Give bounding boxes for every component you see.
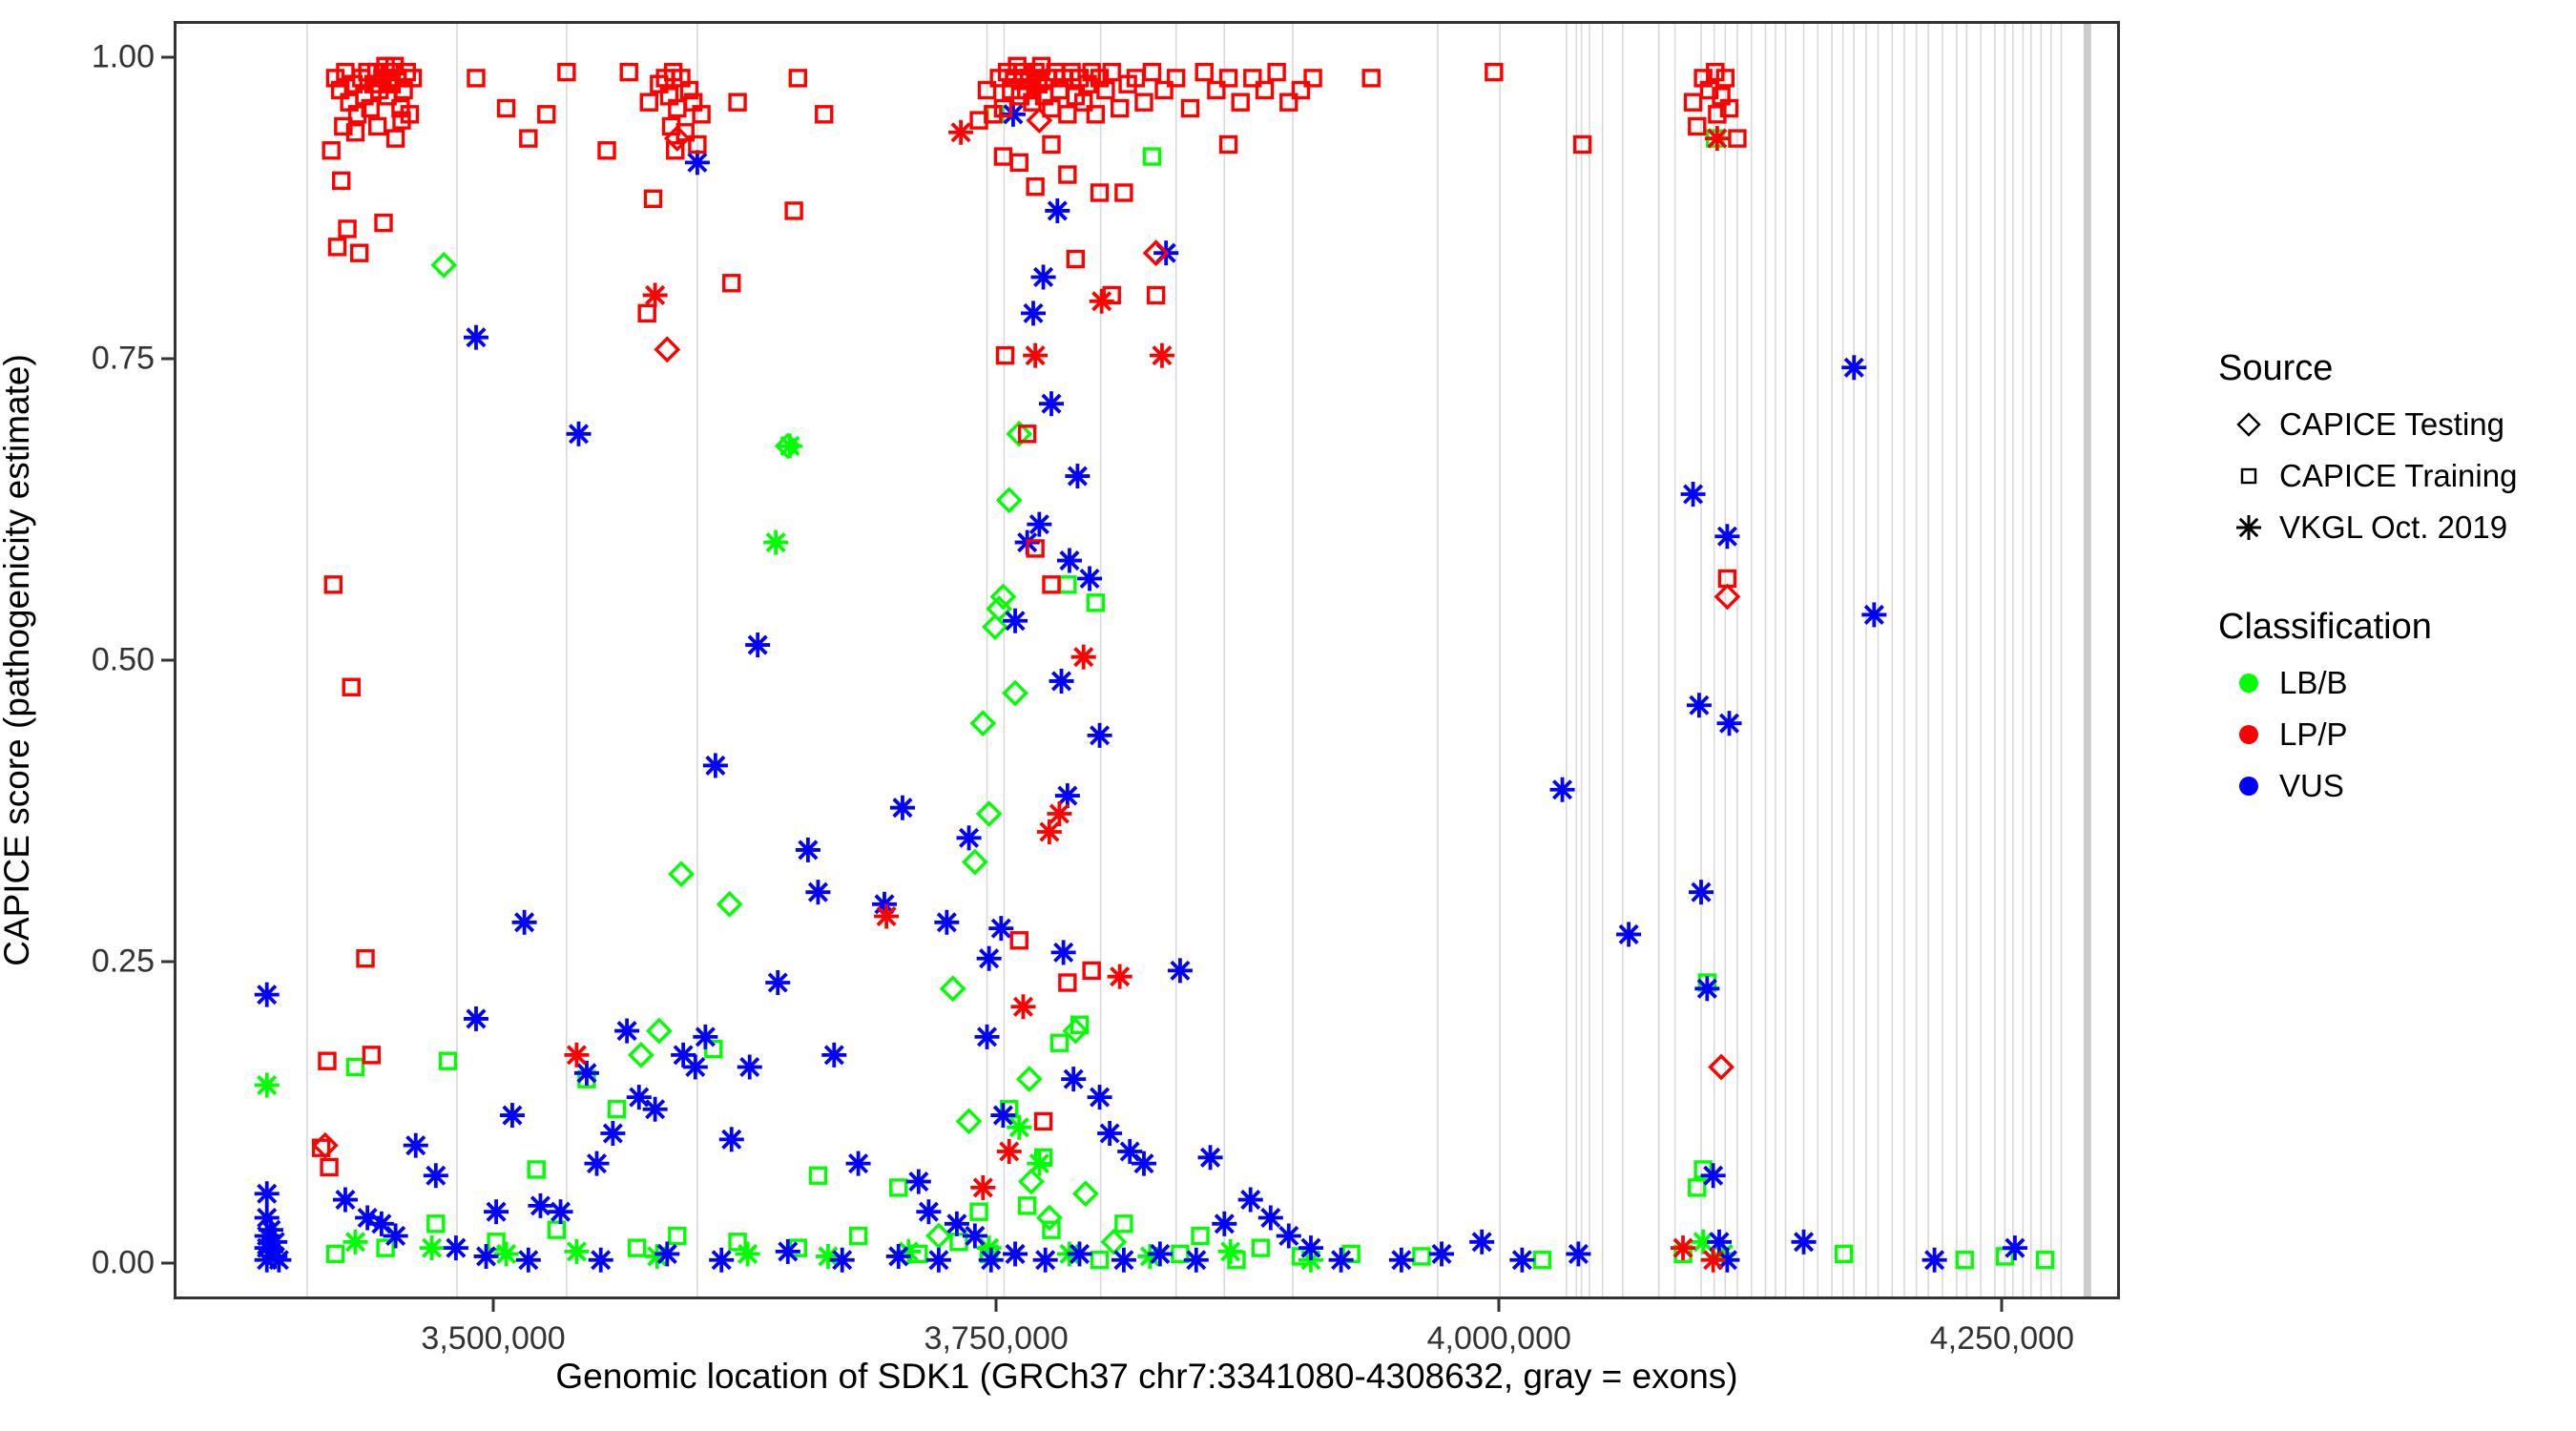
data-point-diamond: [927, 1225, 949, 1247]
scatter-points-layer: [177, 24, 2117, 1296]
data-point-asterisk: [1090, 289, 1114, 314]
data-point-asterisk: [464, 325, 488, 350]
data-point-square: [1044, 136, 1059, 152]
data-point-square: [327, 1246, 343, 1261]
data-point-diamond: [1038, 1207, 1060, 1229]
data-point-square: [549, 1222, 564, 1237]
data-point-square: [1149, 287, 1164, 302]
data-point-square: [1068, 252, 1083, 267]
data-point-asterisk: [1108, 964, 1132, 989]
figure-root: 0.000.250.500.751.00 CAPICE score (patho…: [0, 0, 2576, 1431]
data-point-square: [1414, 1249, 1429, 1264]
data-point-square: [2038, 1253, 2053, 1268]
data-point-asterisk: [805, 880, 830, 904]
data-point-asterisk: [1841, 355, 1866, 380]
legend-label: LP/P: [2279, 716, 2348, 753]
data-point-asterisk: [990, 1103, 1015, 1128]
legend-label: CAPICE Training: [2279, 458, 2517, 494]
data-point-asterisk: [654, 1241, 679, 1266]
data-point-asterisk: [589, 1248, 613, 1273]
data-point-asterisk: [1047, 801, 1071, 826]
data-point-asterisk: [333, 1188, 358, 1213]
data-point-square: [320, 1053, 335, 1068]
legend: Source CAPICE TestingCAPICE TrainingVKGL…: [2218, 348, 2562, 865]
y-tick-label: 0.25: [92, 944, 155, 981]
data-point-square: [790, 71, 805, 86]
data-point-square: [1233, 94, 1248, 110]
data-point-diamond: [1103, 1231, 1125, 1253]
scatter-points: [177, 24, 2117, 1296]
data-point-asterisk: [1298, 1235, 1323, 1260]
data-point-square: [499, 100, 514, 115]
x-tick-mark: [995, 1299, 998, 1312]
data-point-asterisk: [1277, 1223, 1301, 1248]
data-point-asterisk: [763, 530, 788, 555]
legend-item-capice-training[interactable]: CAPICE Training: [2218, 450, 2562, 502]
data-point-asterisk: [945, 1212, 969, 1236]
data-point-square: [1116, 1216, 1132, 1232]
data-point-asterisk: [1007, 1115, 1031, 1140]
dot-icon: [2230, 767, 2268, 805]
data-point-asterisk: [420, 1235, 445, 1260]
data-point-square: [1011, 933, 1027, 948]
data-point-square: [334, 173, 349, 188]
data-point-square: [641, 94, 656, 110]
data-point-diamond: [630, 1044, 652, 1066]
data-point-asterisk: [1329, 1248, 1354, 1273]
data-point-asterisk: [737, 1054, 762, 1079]
data-point-asterisk: [1168, 958, 1193, 983]
data-point-square: [1136, 94, 1152, 110]
data-point-asterisk: [906, 1170, 931, 1194]
data-point-asterisk: [957, 825, 982, 850]
data-point-asterisk: [1258, 1206, 1283, 1231]
data-point-square: [891, 1180, 906, 1195]
data-point-asterisk: [1238, 1188, 1263, 1213]
legend-key: [2218, 508, 2279, 547]
data-point-square: [340, 221, 355, 237]
legend-key: [2218, 457, 2279, 495]
y-tick-mark: [161, 55, 174, 58]
data-point-diamond: [718, 893, 740, 915]
x-axis-title: Genomic location of SDK1 (GRCh37 chr7:33…: [555, 1357, 1737, 1397]
series-vus-vkgl-oct-2019: [255, 102, 2027, 1273]
legend-item-lb-b[interactable]: LB/B: [2218, 657, 2562, 709]
data-point-square: [817, 107, 832, 122]
data-point-asterisk: [1469, 1230, 1494, 1255]
data-point-asterisk: [1922, 1248, 1947, 1273]
data-point-asterisk: [1701, 1248, 1726, 1273]
legend-label: LB/B: [2279, 665, 2348, 701]
data-point-square: [343, 679, 359, 695]
data-point-asterisk: [934, 910, 959, 935]
data-point-asterisk: [255, 983, 280, 1007]
data-point-asterisk: [266, 1248, 291, 1273]
data-point-asterisk: [424, 1163, 448, 1188]
data-point-asterisk: [549, 1199, 573, 1224]
data-point-diamond: [942, 978, 964, 1000]
data-point-asterisk: [1021, 301, 1046, 325]
data-point-diamond: [964, 851, 986, 873]
y-axis-title: CAPICE score (pathogenicity estimate): [0, 354, 37, 966]
legend-item-capice-testing[interactable]: CAPICE Testing: [2218, 399, 2562, 450]
series-lb-b-vkgl-oct-2019: [255, 433, 1735, 1272]
data-point-diamond: [1018, 1068, 1040, 1090]
data-point-diamond: [433, 254, 455, 276]
data-point-square: [1088, 595, 1103, 611]
data-point-asterisk: [474, 1244, 499, 1269]
data-point-asterisk: [1111, 1248, 1136, 1273]
legend-key: [2218, 715, 2279, 754]
data-point-square: [1044, 577, 1059, 592]
data-point-asterisk: [643, 282, 668, 307]
data-point-square: [1363, 71, 1379, 86]
data-point-square: [1020, 426, 1035, 442]
dot-icon: [2230, 664, 2268, 702]
data-point-asterisk: [745, 633, 770, 657]
legend-label: VUS: [2279, 768, 2344, 804]
data-point-square: [323, 143, 339, 158]
data-point-asterisk: [776, 1239, 800, 1264]
data-point-asterisk: [1039, 391, 1064, 416]
legend-key: [2218, 664, 2279, 702]
data-point-asterisk: [1051, 940, 1076, 964]
data-point-asterisk: [384, 1223, 408, 1248]
data-point-asterisk: [693, 1025, 717, 1049]
data-point-square: [1196, 65, 1212, 80]
data-point-asterisk: [464, 1006, 488, 1031]
data-point-square: [639, 305, 654, 321]
legend-group-classification: Classification LB/BLP/PVUS: [2218, 607, 2562, 812]
data-point-asterisk: [1184, 1248, 1209, 1273]
data-point-square: [1957, 1253, 1972, 1268]
data-point-square: [539, 107, 554, 122]
data-point-square: [347, 1059, 363, 1074]
data-point-square: [1253, 1240, 1268, 1255]
data-point-square: [670, 1228, 685, 1243]
data-point-asterisk: [1088, 723, 1112, 748]
x-tick-label: 3,750,000: [924, 1320, 1069, 1358]
data-point-asterisk: [1027, 1151, 1051, 1176]
data-point-asterisk: [600, 1121, 625, 1146]
data-point-square: [376, 216, 391, 231]
data-point-diamond: [648, 1020, 670, 1042]
x-tick-mark: [2001, 1299, 2004, 1312]
data-point-square: [997, 348, 1012, 363]
data-point-asterisk: [1027, 512, 1051, 537]
data-point-asterisk: [719, 1127, 744, 1151]
data-point-square: [1144, 65, 1159, 80]
data-point-square: [521, 131, 536, 146]
data-point-diamond: [1716, 586, 1738, 608]
data-point-asterisk: [1061, 1067, 1086, 1091]
data-point-square: [610, 1102, 625, 1117]
legend-title-classification: Classification: [2218, 607, 2562, 648]
data-point-square: [388, 131, 404, 146]
data-point-asterisk: [484, 1199, 509, 1224]
x-tick-mark: [1498, 1299, 1501, 1312]
data-point-square: [1084, 963, 1099, 978]
data-point-asterisk: [494, 1241, 519, 1266]
data-point-asterisk: [1045, 198, 1070, 223]
square-icon: [2230, 457, 2268, 495]
data-point-asterisk: [1714, 524, 1739, 549]
data-point-asterisk: [1717, 711, 1742, 736]
data-point-asterisk: [1031, 264, 1056, 289]
data-point-square: [529, 1162, 544, 1177]
data-point-asterisk: [778, 433, 802, 458]
data-point-asterisk: [874, 903, 899, 928]
x-tick-mark: [492, 1299, 495, 1312]
data-point-asterisk: [1687, 693, 1712, 717]
legend-label: CAPICE Testing: [2279, 406, 2504, 443]
data-point-square: [352, 245, 367, 260]
data-point-asterisk: [685, 150, 710, 175]
y-tick-mark: [161, 357, 174, 360]
data-point-square: [1092, 185, 1108, 200]
data-point-square: [1837, 1246, 1852, 1261]
data-point-diamond: [1028, 110, 1050, 132]
data-point-asterisk: [1792, 1230, 1817, 1255]
data-point-square: [364, 1047, 379, 1063]
plot-panel: [174, 21, 2120, 1299]
legend-key: [2218, 767, 2279, 805]
data-point-asterisk: [1003, 609, 1028, 633]
data-point-asterisk: [926, 1248, 951, 1273]
data-point-asterisk: [830, 1248, 855, 1273]
y-tick-label: 1.00: [92, 38, 155, 75]
data-point-square: [370, 118, 385, 134]
data-point-square: [1269, 65, 1284, 80]
legend-label: VKGL Oct. 2019: [2279, 509, 2507, 546]
data-point-asterisk: [846, 1151, 871, 1176]
data-point-square: [621, 65, 636, 80]
legend-item-vus[interactable]: VUS: [2218, 760, 2562, 812]
legend-title-source: Source: [2218, 348, 2562, 389]
dot-icon: [2230, 715, 2268, 754]
data-point-asterisk: [516, 1248, 541, 1273]
legend-item-lp-p[interactable]: LP/P: [2218, 709, 2562, 760]
data-point-asterisk: [1003, 1241, 1028, 1266]
data-point-square: [1028, 179, 1043, 195]
x-tick-label: 4,000,000: [1427, 1320, 1571, 1358]
data-point-square: [428, 1216, 444, 1232]
data-point-diamond: [656, 339, 678, 361]
data-point-square: [1112, 100, 1128, 115]
data-point-asterisk: [584, 1151, 609, 1176]
series-lb-b-capice-testing: [433, 254, 1125, 1253]
data-point-square: [810, 1168, 825, 1183]
data-point-square: [1534, 1253, 1549, 1268]
data-point-diamond: [984, 616, 1006, 638]
data-point-asterisk: [1132, 1151, 1156, 1176]
data-point-square: [1116, 185, 1132, 200]
data-point-square: [1730, 131, 1745, 146]
data-point-square: [1486, 65, 1502, 80]
data-point-asterisk: [1212, 1212, 1236, 1236]
data-point-asterisk: [1088, 1085, 1112, 1110]
y-tick-mark: [161, 1262, 174, 1265]
data-point-asterisk: [1694, 976, 1719, 1001]
data-point-diamond: [1074, 1183, 1096, 1205]
data-point-asterisk: [1429, 1241, 1454, 1266]
data-point-square: [995, 149, 1010, 164]
data-point-asterisk: [1065, 464, 1090, 488]
data-point-asterisk: [1861, 602, 1886, 627]
y-tick-label: 0.00: [92, 1245, 155, 1282]
data-point-square: [724, 276, 739, 291]
data-point-asterisk: [1389, 1248, 1414, 1273]
data-point-asterisk: [1218, 1239, 1243, 1264]
y-tick-mark: [161, 961, 174, 964]
data-point-asterisk: [404, 1133, 428, 1158]
data-point-asterisk: [1671, 1235, 1695, 1260]
data-point-square: [1060, 167, 1075, 182]
data-point-asterisk: [1550, 778, 1575, 802]
data-point-asterisk: [1097, 1121, 1122, 1146]
data-point-asterisk: [948, 120, 973, 145]
data-point-asterisk: [979, 1248, 1004, 1273]
y-tick-label: 0.75: [92, 340, 155, 377]
data-point-square: [1221, 136, 1236, 152]
data-point-square: [1060, 975, 1075, 990]
data-point-square: [1144, 149, 1159, 164]
data-point-asterisk: [564, 1043, 589, 1068]
data-point-asterisk: [1689, 880, 1714, 904]
data-point-square: [1020, 1198, 1035, 1213]
data-point-asterisk: [1616, 922, 1641, 946]
data-point-square: [599, 143, 614, 158]
data-point-asterisk: [963, 1223, 987, 1248]
data-point-asterisk: [1701, 1163, 1726, 1188]
data-point-asterisk: [1566, 1241, 1590, 1266]
diamond-icon: [2230, 405, 2268, 444]
data-point-asterisk: [1057, 549, 1082, 573]
data-point-square: [1036, 1113, 1051, 1129]
data-point-asterisk: [1705, 126, 1730, 151]
data-point-asterisk: [916, 1199, 941, 1224]
data-point-square: [646, 191, 661, 206]
data-point-asterisk: [2003, 1235, 2027, 1260]
data-point-asterisk: [683, 1054, 708, 1079]
data-point-asterisk: [890, 796, 915, 820]
legend-group-source: Source CAPICE TestingCAPICE TrainingVKGL…: [2218, 348, 2562, 553]
data-point-asterisk: [1198, 1145, 1223, 1170]
data-point-square: [330, 239, 345, 255]
data-point-asterisk: [627, 1085, 652, 1110]
data-point-square: [1060, 107, 1075, 122]
data-point-square: [1686, 94, 1701, 110]
data-point-diamond: [1711, 1056, 1733, 1078]
data-point-asterisk: [1068, 1241, 1092, 1266]
x-tick-label: 4,250,000: [1930, 1320, 2074, 1358]
data-point-asterisk: [512, 910, 537, 935]
data-point-diamond: [1005, 682, 1027, 704]
data-point-asterisk: [821, 1043, 846, 1068]
data-point-asterisk: [1509, 1248, 1534, 1273]
data-point-asterisk: [970, 1175, 995, 1200]
data-point-square: [971, 1204, 987, 1219]
y-tick-mark: [161, 659, 174, 662]
data-point-square: [1092, 1253, 1108, 1268]
data-point-asterisk: [1033, 1248, 1058, 1273]
data-point-square: [1690, 1180, 1705, 1195]
data-point-asterisk: [1150, 343, 1174, 368]
data-point-square: [1690, 118, 1705, 134]
data-point-square: [1575, 136, 1590, 152]
data-point-asterisk: [988, 916, 1013, 941]
asterisk-icon: [2230, 508, 2268, 547]
series-lb-b-capice-training: [327, 107, 2052, 1268]
data-point-asterisk: [255, 1181, 280, 1206]
data-point-diamond: [314, 1134, 336, 1156]
data-point-square: [1011, 155, 1027, 170]
data-point-square: [851, 1228, 866, 1243]
legend-item-vkgl-oct-2019[interactable]: VKGL Oct. 2019: [2218, 502, 2562, 553]
data-point-asterisk: [255, 1072, 280, 1097]
data-point-diamond: [998, 489, 1020, 511]
data-point-asterisk: [765, 970, 790, 995]
data-point-asterisk: [977, 946, 1002, 971]
data-point-square: [630, 1240, 645, 1255]
data-point-square: [322, 1159, 337, 1174]
data-point-asterisk: [1049, 669, 1074, 694]
data-point-asterisk: [1681, 482, 1706, 507]
data-point-diamond: [988, 598, 1010, 620]
data-point-square: [730, 94, 745, 110]
data-point-square: [1060, 577, 1075, 592]
data-point-asterisk: [564, 1239, 589, 1264]
data-point-diamond: [972, 713, 994, 735]
data-point-square: [325, 577, 341, 592]
y-tick-label: 0.50: [92, 642, 155, 679]
data-point-asterisk: [886, 1244, 911, 1269]
data-point-asterisk: [1148, 1241, 1173, 1266]
data-point-asterisk: [444, 1235, 468, 1260]
data-point-asterisk: [1010, 994, 1035, 1019]
data-point-square: [1182, 100, 1197, 115]
data-point-square: [1051, 1035, 1067, 1050]
data-point-asterisk: [355, 1206, 380, 1231]
data-point-square: [468, 71, 484, 86]
data-point-asterisk: [703, 753, 728, 778]
data-point-square: [559, 65, 574, 80]
x-axis: 3,500,0003,750,0004,000,0004,250,000: [174, 1299, 2120, 1357]
data-point-asterisk: [1077, 567, 1102, 591]
series-lp-p-capice-testing: [314, 110, 1738, 1157]
data-point-diamond: [958, 1110, 980, 1132]
data-point-asterisk: [997, 1139, 1022, 1164]
data-point-asterisk: [643, 1097, 668, 1122]
data-point-diamond: [978, 803, 1000, 825]
data-point-square: [358, 951, 373, 966]
x-tick-label: 3,500,000: [421, 1320, 565, 1358]
data-point-asterisk: [709, 1248, 734, 1273]
data-point-square: [1193, 1228, 1208, 1243]
data-point-asterisk: [343, 1230, 367, 1255]
data-point-square: [786, 203, 801, 218]
data-point-asterisk: [796, 838, 821, 862]
data-point-asterisk: [975, 1025, 1000, 1049]
data-point-diamond: [671, 863, 693, 885]
data-point-diamond: [992, 586, 1014, 608]
data-point-asterisk: [567, 422, 592, 446]
legend-key: [2218, 405, 2279, 444]
data-point-asterisk: [528, 1193, 552, 1218]
data-point-asterisk: [1023, 343, 1048, 368]
data-point-asterisk: [1071, 645, 1096, 670]
data-point-asterisk: [736, 1241, 760, 1266]
